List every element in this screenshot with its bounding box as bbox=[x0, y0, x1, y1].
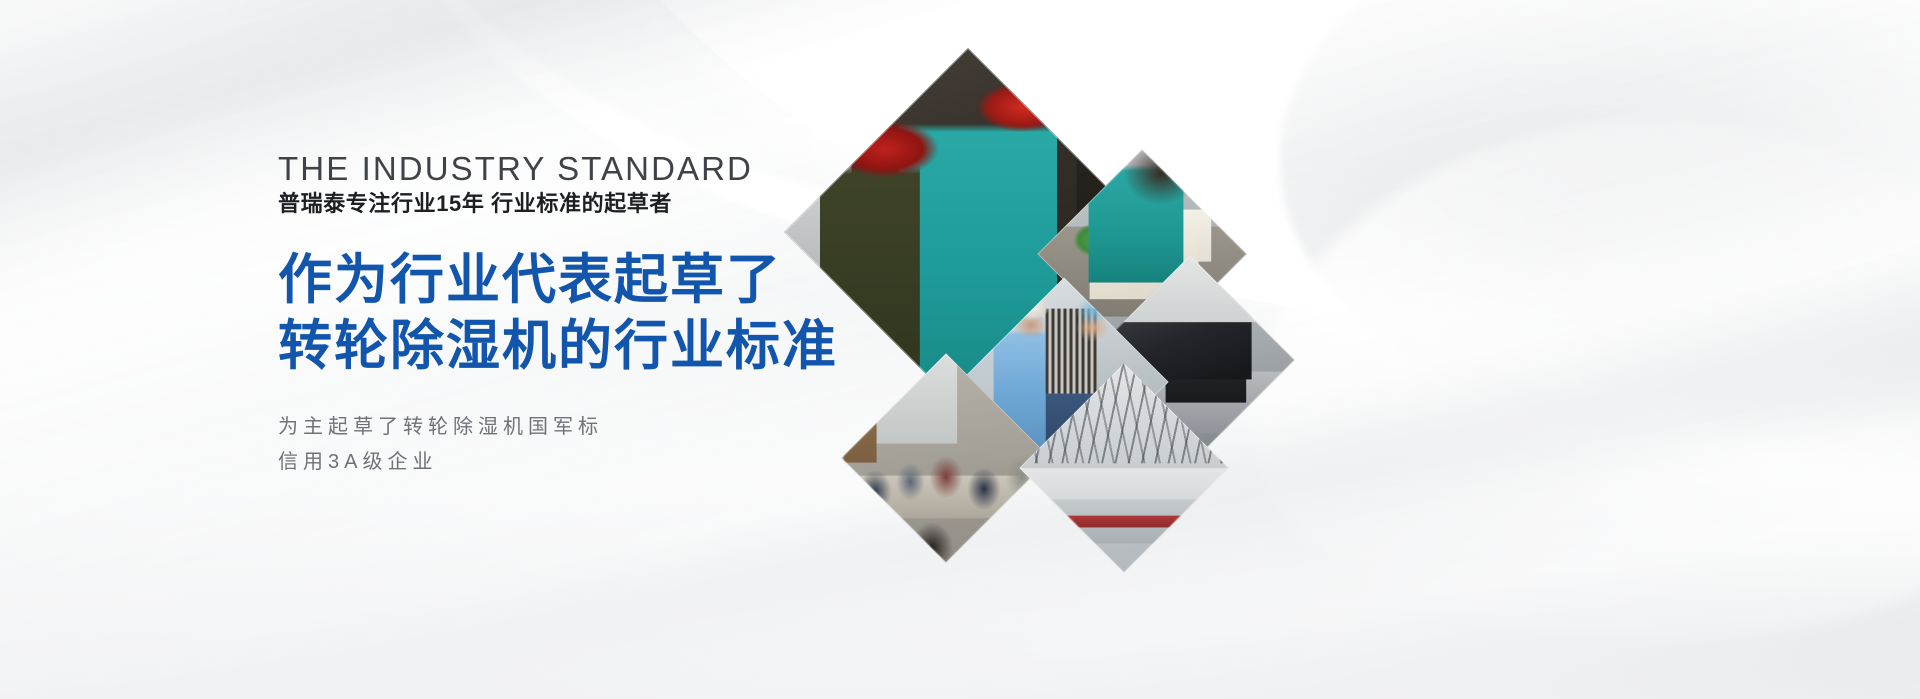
background-shade-right bbox=[1280, 0, 1920, 440]
background-swoosh-tail bbox=[1250, 120, 1920, 640]
banner-headline: 作为行业代表起草了 转轮除湿机的行业标准 bbox=[278, 248, 918, 380]
banner-text-block: THE INDUSTRY STANDARD 普瑞泰专注行业15年 行业标准的起草… bbox=[278, 152, 918, 480]
banner-eyebrow-chinese: 普瑞泰专注行业15年 行业标准的起草者 bbox=[278, 190, 918, 219]
banner-eyebrow-english: THE INDUSTRY STANDARD bbox=[278, 152, 918, 187]
hero-banner: THE INDUSTRY STANDARD 普瑞泰专注行业15年 行业标准的起草… bbox=[0, 0, 1920, 699]
banner-subtext-line-1: 为主起草了转轮除湿机国军标 bbox=[278, 410, 918, 445]
banner-subtext: 为主起草了转轮除湿机国军标 信用3A级企业 bbox=[278, 410, 918, 480]
banner-headline-line-2: 转轮除湿机的行业标准 bbox=[278, 314, 918, 380]
banner-subtext-line-2: 信用3A级企业 bbox=[278, 445, 918, 480]
banner-headline-line-1: 作为行业代表起草了 bbox=[278, 248, 918, 314]
